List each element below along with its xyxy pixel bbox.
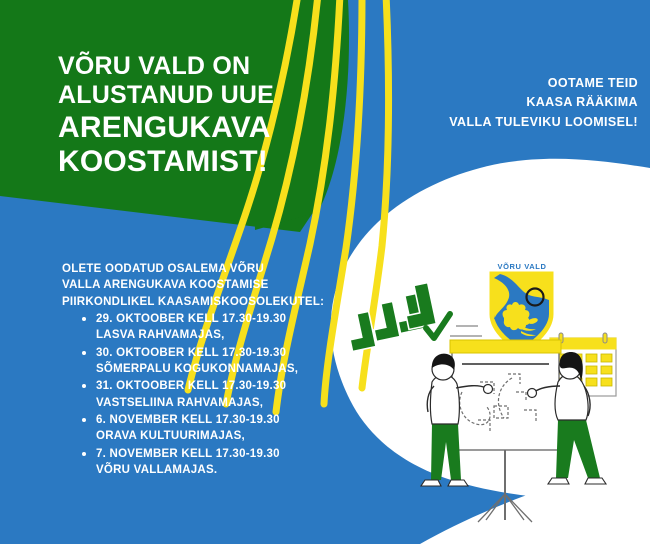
person-left-shoe-1 xyxy=(421,480,441,486)
flipchart xyxy=(450,340,561,522)
invite-line-3: VALLA TULEVIKU LOOMISEL! xyxy=(398,113,638,132)
meeting-when: 29. OKTOOBER KELL 17.30-19.30 xyxy=(96,311,354,327)
person-right-hand xyxy=(528,389,537,398)
meeting-when: 31. OKTOOBER KELL 17.30-19.30 xyxy=(96,378,354,394)
headline-line-1: VÕRU VALD ON xyxy=(58,52,308,81)
list-item: 7. NOVEMBER KELL 17.30-19.30 VÕRU VALLAM… xyxy=(82,446,354,479)
person-left-shoe-2 xyxy=(448,480,468,486)
meeting-when: 7. NOVEMBER KELL 17.30-19.30 xyxy=(96,446,354,462)
meeting-when: 6. NOVEMBER KELL 17.30-19.30 xyxy=(96,412,354,428)
person-right-shoe-1 xyxy=(548,478,569,484)
intro-line-1: OLETE OODATUD OSALEMA VÕRU xyxy=(62,261,332,277)
meeting-when: 30. OKTOOBER KELL 17.30-19.30 xyxy=(96,345,354,361)
crest-label: VÕRU VALD xyxy=(487,262,557,271)
intro-line-3: PIIRKONDLIKEL KAASAMISKOOSOLEKUTEL: xyxy=(62,294,332,310)
list-item: 29. OKTOOBER KELL 17.30-19.30 LASVA RAHV… xyxy=(82,311,354,344)
meeting-place: VÕRU VALLAMAJAS. xyxy=(96,462,354,478)
headline: VÕRU VALD ON ALUSTANUD UUE ARENGUKAVA KO… xyxy=(58,52,308,179)
meeting-place: ORAVA KULTUURIMAJAS, xyxy=(96,428,354,444)
intro-text: OLETE OODATUD OSALEMA VÕRU VALLA ARENGUK… xyxy=(62,261,332,310)
intro-line-2: VALLA ARENGUKAVA KOOSTAMISE xyxy=(62,277,332,293)
list-item: 31. OKTOOBER KELL 17.30-19.30 VASTSELIIN… xyxy=(82,378,354,411)
headline-line-2: ALUSTANUD UUE xyxy=(58,81,308,110)
person-left-hand xyxy=(484,385,493,394)
person-right-legs xyxy=(556,420,600,478)
meeting-place: LASVA RAHVAMAJAS, xyxy=(96,327,354,343)
invite-line-1: OOTAME TEID xyxy=(398,74,638,93)
person-right-shoe-2 xyxy=(585,478,606,484)
person-left-legs xyxy=(431,424,461,480)
headline-line-3: ARENGUKAVA xyxy=(58,111,308,145)
meetings-list: 29. OKTOOBER KELL 17.30-19.30 LASVA RAHV… xyxy=(62,311,354,479)
headline-line-4: KOOSTAMIST! xyxy=(58,145,308,179)
meeting-place: SÕMERPALU KOGUKONNAMAJAS, xyxy=(96,361,354,377)
invite-text: OOTAME TEID KAASA RÄÄKIMA VALLA TULEVIKU… xyxy=(398,74,638,132)
person-left-body xyxy=(431,375,460,424)
list-item: 30. OKTOOBER KELL 17.30-19.30 SÕMERPALU … xyxy=(82,345,354,378)
list-item: 6. NOVEMBER KELL 17.30-19.30 ORAVA KULTU… xyxy=(82,412,354,445)
poster-canvas: VÕRU VALD ON ALUSTANUD UUE ARENGUKAVA KO… xyxy=(0,0,650,544)
invite-line-2: KAASA RÄÄKIMA xyxy=(398,93,638,112)
meeting-place: VASTSELIINA RAHVAMAJAS, xyxy=(96,395,354,411)
